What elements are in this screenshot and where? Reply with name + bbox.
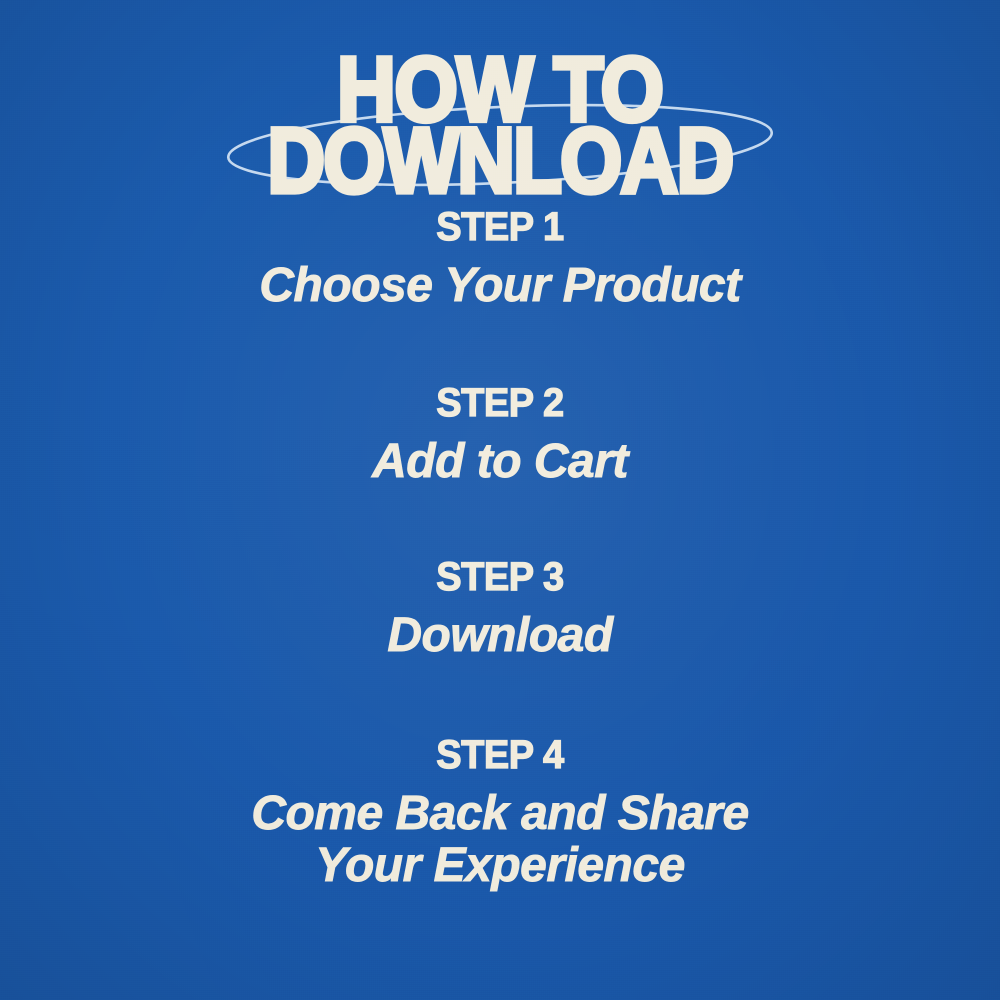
step-description-4-line-1: Come Back and Share bbox=[0, 788, 1000, 839]
step-spacer-1 bbox=[0, 311, 1000, 381]
step-item-1: STEP 1 Choose Your Product bbox=[0, 205, 1000, 311]
step-label-3: STEP 3 bbox=[25, 555, 975, 600]
step-spacer-2 bbox=[0, 487, 1000, 555]
step-description-1: Choose Your Product bbox=[0, 260, 1000, 311]
step-item-4: STEP 4 Come Back and Share Your Experien… bbox=[0, 733, 1000, 891]
poster-canvas: HOW TO DOWNLOAD STEP 1 Choose Your Produ… bbox=[0, 0, 1000, 1000]
step-description-3: Download bbox=[0, 610, 1000, 661]
step-description-4: Come Back and Share Your Experience bbox=[0, 788, 1000, 891]
step-description-2: Add to Cart bbox=[0, 436, 1000, 487]
step-label-4: STEP 4 bbox=[25, 733, 975, 778]
title-block: HOW TO DOWNLOAD bbox=[0, 28, 1000, 203]
step-description-2-line-1: Add to Cart bbox=[0, 436, 1000, 487]
step-label-2: STEP 2 bbox=[25, 381, 975, 426]
step-description-3-line-1: Download bbox=[0, 610, 1000, 661]
step-item-2: STEP 2 Add to Cart bbox=[0, 381, 1000, 487]
step-description-1-line-1: Choose Your Product bbox=[0, 260, 1000, 311]
page-title-line-2: DOWNLOAD bbox=[0, 114, 1000, 206]
step-spacer-3 bbox=[0, 661, 1000, 733]
steps-list: STEP 1 Choose Your Product STEP 2 Add to… bbox=[0, 205, 1000, 891]
step-item-3: STEP 3 Download bbox=[0, 555, 1000, 661]
step-description-4-line-2: Your Experience bbox=[0, 840, 1000, 891]
step-label-1: STEP 1 bbox=[25, 205, 975, 250]
